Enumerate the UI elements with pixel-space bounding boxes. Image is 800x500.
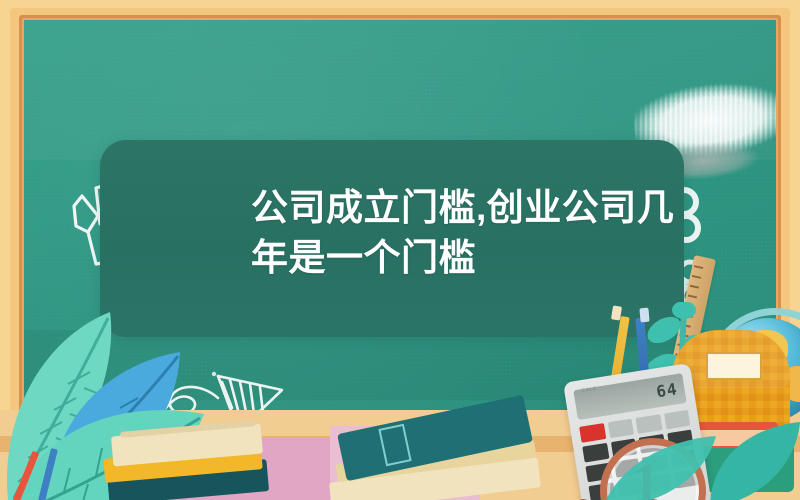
poster-canvas: 公司成立门槛,创业公司几年是一个门槛: [0, 0, 800, 500]
calculator-key-3[interactable]: [664, 410, 691, 430]
page-title-line2: 年是一个门槛: [251, 237, 476, 278]
page-title: 公司成立门槛,创业公司几年是一个门槛: [251, 183, 701, 283]
page-title-line1: 公司成立门槛,创业公司几: [251, 187, 674, 228]
backpack-label: [706, 352, 762, 380]
calculator-brand: CALC: [581, 386, 597, 394]
leaf-front-right: [600, 430, 720, 500]
leaf-front-right-2: [704, 418, 800, 500]
pencil-blue-tip: [639, 308, 649, 323]
calculator-display: 64: [655, 379, 679, 401]
